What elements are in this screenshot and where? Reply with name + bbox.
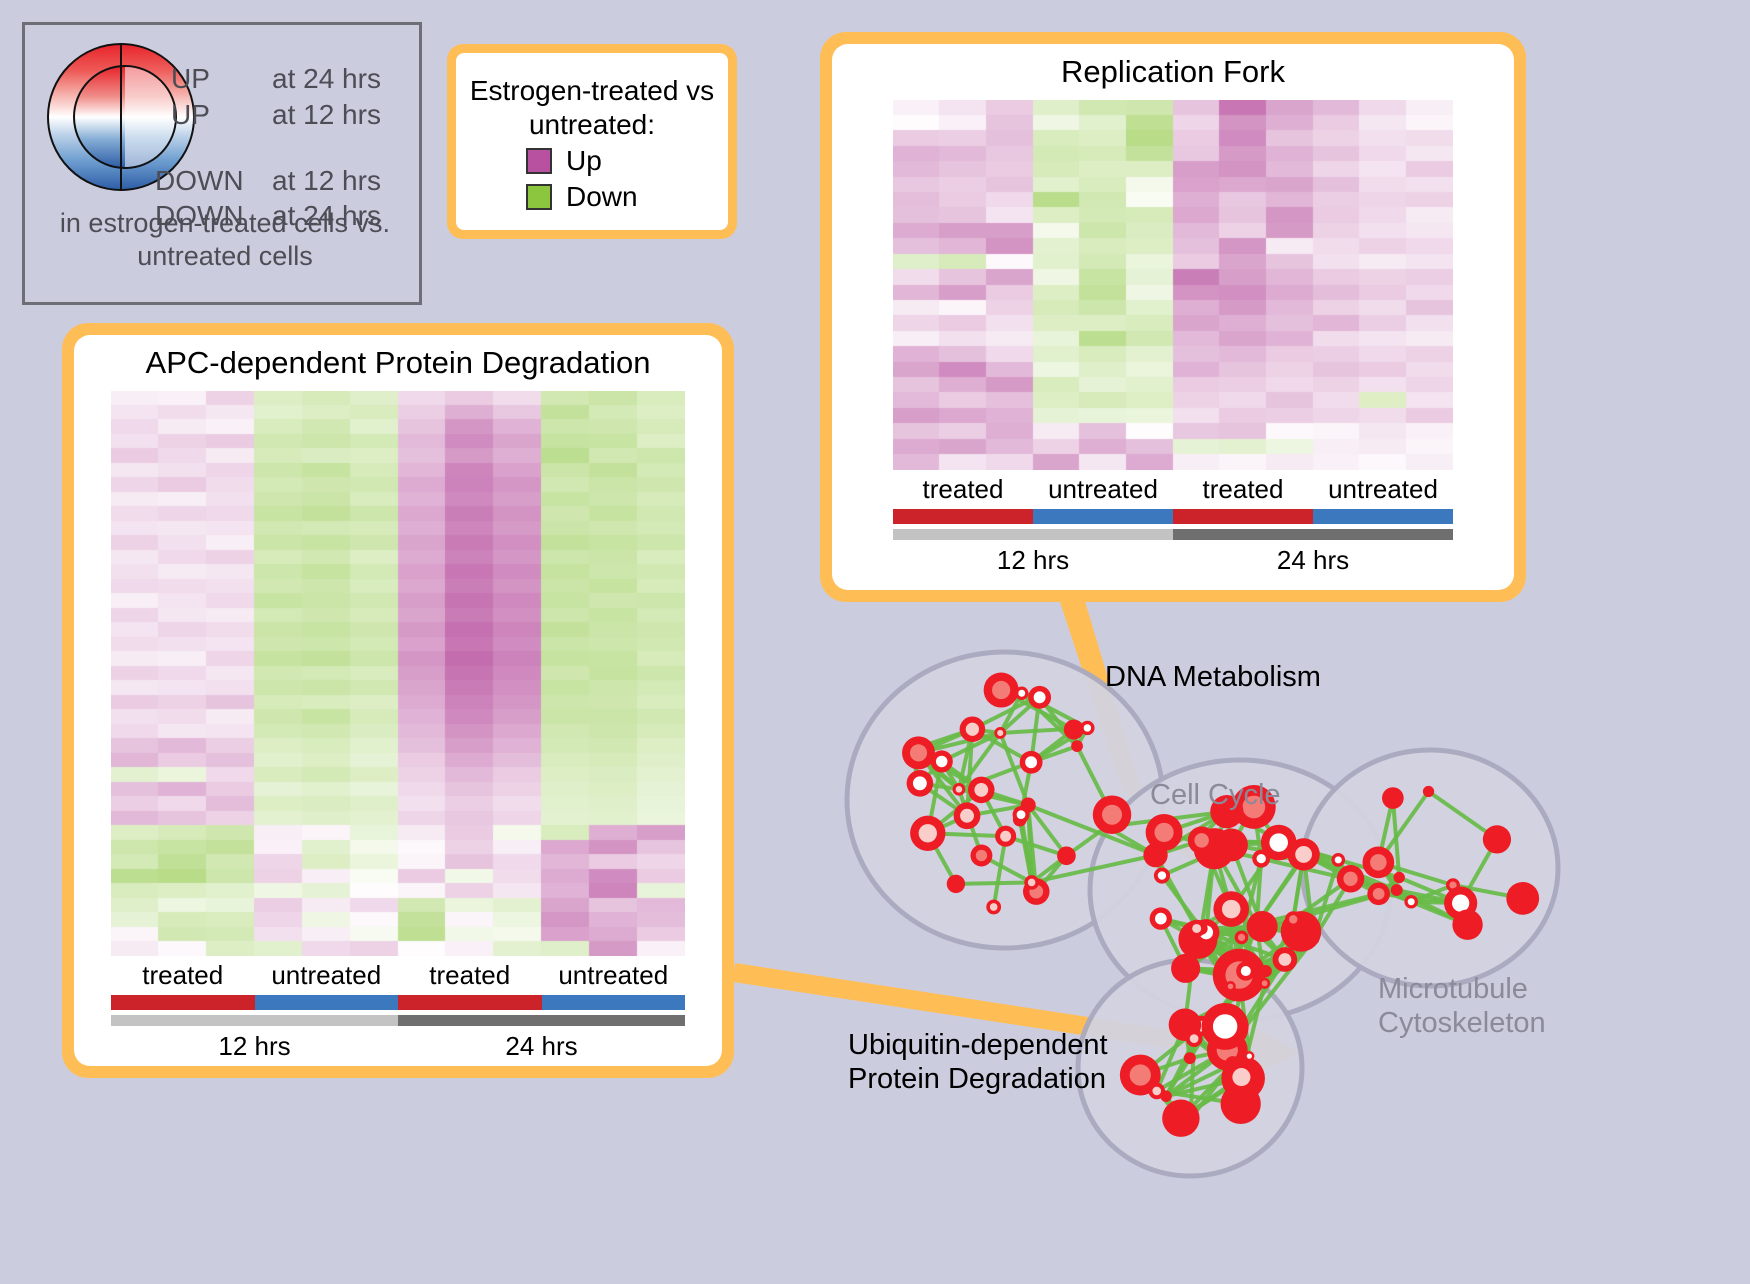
treatment-label: untreated (542, 956, 686, 994)
network-node[interactable] (1071, 740, 1083, 752)
legend-time-0: at 24 hrs (272, 63, 381, 95)
time-color-bar-apc (111, 1015, 685, 1026)
network-node-core (1028, 879, 1036, 887)
legend-footnote: in estrogen-treated cells vs. untreated … (25, 207, 425, 273)
panel-apc-dependent-protein-degradation: APC-dependent Protein Degradation treate… (62, 323, 734, 1078)
network-node-core (1084, 724, 1091, 731)
legend-state-2: DOWN (155, 165, 244, 197)
network-node-core (1295, 846, 1312, 863)
up-label: Up (566, 145, 658, 177)
network-node-core (1408, 898, 1415, 905)
network-node-core (1452, 895, 1469, 912)
network-node-core (1152, 1087, 1161, 1096)
ring-divider (120, 43, 122, 191)
network-node[interactable] (1021, 798, 1036, 813)
treatment-label: untreated (1313, 470, 1453, 508)
network-edge (956, 882, 1032, 883)
network-node[interactable] (1423, 786, 1434, 797)
network-node-core (1278, 953, 1291, 966)
legend-entry-up: Up (526, 145, 658, 177)
network-node[interactable] (1506, 882, 1539, 915)
treatment-label: treated (1173, 470, 1313, 508)
network-node-core (1238, 934, 1245, 941)
cluster-label-ubiquitin-dependent-protein-degradation: Ubiquitin-dependent Protein Degradation (848, 1028, 1108, 1096)
treatment-bar-segment (398, 995, 542, 1010)
legend-state-1: UP (171, 99, 210, 131)
time-labels-apc: 12 hrs 24 hrs (111, 1026, 685, 1062)
time-labels-replication: 12 hrs 24 hrs (893, 540, 1453, 576)
network-node-core (1232, 1068, 1250, 1086)
time-label: 12 hrs (111, 1026, 398, 1062)
network-node[interactable] (1184, 1052, 1196, 1064)
network-node-core (1262, 980, 1268, 986)
network-node[interactable] (1394, 872, 1405, 883)
network-node-core (1158, 871, 1166, 879)
panel-title-apc: APC-dependent Protein Degradation (146, 345, 651, 381)
network-svg (790, 600, 1750, 1279)
network-node-core (1213, 1014, 1237, 1038)
network-node-core (1257, 854, 1266, 863)
network-node-core (997, 730, 1003, 736)
network-node-core (1025, 756, 1037, 768)
network-node-core (990, 903, 998, 911)
network-node-core (1155, 913, 1167, 925)
treatment-labels-replication: treated untreated treated untreated (893, 470, 1453, 508)
updown-legend-title: Estrogen-treated vs untreated: (456, 74, 728, 141)
network-node-core (1289, 915, 1297, 923)
network-node[interactable] (1308, 934, 1319, 945)
network-node-core (913, 776, 927, 790)
treatment-bar-segment (1313, 509, 1453, 524)
network-node-core (1247, 1054, 1252, 1059)
time-label: 24 hrs (1173, 540, 1453, 576)
down-label: Down (566, 181, 658, 213)
legend-entry-down: Down (526, 181, 658, 213)
network-node-core (1269, 833, 1288, 852)
network-node-core (992, 681, 1010, 699)
network-node-core (1034, 691, 1046, 703)
panel-title-replication-fork: Replication Fork (1061, 54, 1285, 90)
network-node-core (1241, 966, 1251, 976)
network-node-core (1017, 810, 1026, 819)
heatmap-apc-dependent-protein-degradation (111, 391, 685, 956)
column-annotations-apc: treated untreated treated untreated 12 h (111, 956, 685, 1062)
treatment-color-bar-apc (111, 995, 685, 1010)
network-node-core (974, 783, 988, 797)
heatmap-replication-fork (893, 100, 1453, 470)
network-node-core (956, 786, 963, 793)
panel-replication-fork: Replication Fork treated untreated treat… (820, 32, 1526, 602)
network-node-core (1154, 823, 1173, 842)
treatment-bar-segment (893, 509, 1033, 524)
legend-state-0: UP (171, 63, 210, 95)
network-node-core (1102, 805, 1122, 825)
network-node-core (936, 756, 948, 768)
time-bar-segment (398, 1015, 685, 1026)
network-node-core (1373, 888, 1385, 900)
treatment-bar-segment (1033, 509, 1173, 524)
updown-color-legend: Estrogen-treated vs untreated: Up Down (447, 44, 737, 239)
network-node-core (960, 809, 974, 823)
network-node-core (966, 723, 979, 736)
network-node-core (1194, 833, 1208, 847)
network-node[interactable] (1215, 828, 1248, 861)
column-annotations-replication-fork: treated untreated treated untreated 12 h (893, 470, 1453, 576)
network-node[interactable] (1452, 910, 1482, 940)
time-color-bar-replication (893, 529, 1453, 540)
treatment-bar-segment (1173, 509, 1313, 524)
network-node-core (1228, 984, 1233, 989)
network-node-core (1222, 900, 1241, 919)
treatment-bar-segment (111, 995, 255, 1010)
network-node-core (1018, 690, 1025, 697)
time-label: 12 hrs (893, 540, 1173, 576)
time-bar-segment (893, 529, 1173, 540)
network-node-core (1000, 831, 1011, 842)
pathway-network-diagram: DNA Metabolism Cell Cycle Microtubule Cy… (790, 600, 1750, 1279)
inner-ring-12hrs (73, 65, 177, 169)
legend-time-2: at 12 hrs (272, 165, 381, 197)
figure-canvas: UP at 24 hrs UP at 12 hrs DOWN at 12 hrs… (0, 0, 1750, 1279)
treatment-label: untreated (255, 956, 399, 994)
time-label: 24 hrs (398, 1026, 685, 1062)
network-node-core (1190, 1034, 1199, 1043)
expression-circle-legend: UP at 24 hrs UP at 12 hrs DOWN at 12 hrs… (22, 22, 422, 305)
network-node[interactable] (947, 875, 965, 893)
network-node[interactable] (1247, 911, 1278, 942)
down-color-swatch (526, 184, 552, 210)
treatment-labels-apc: treated untreated treated untreated (111, 956, 685, 994)
time-bar-segment (1173, 529, 1453, 540)
network-node-core (910, 744, 927, 761)
cluster-label-dna-metabolism: DNA Metabolism (1105, 660, 1321, 694)
network-node-core (976, 850, 987, 861)
network-node[interactable] (1057, 846, 1076, 865)
cluster-label-microtubule-cytoskeleton: Microtubule Cytoskeleton (1378, 972, 1546, 1040)
network-node[interactable] (1391, 884, 1403, 896)
network-node-core (1370, 854, 1387, 871)
network-node[interactable] (1483, 825, 1511, 853)
network-node-core (1335, 856, 1342, 863)
network-node[interactable] (1382, 787, 1404, 809)
treatment-bar-segment (255, 995, 399, 1010)
network-node-core (1130, 1064, 1151, 1085)
network-node[interactable] (1185, 1113, 1196, 1124)
network-node-core (1192, 924, 1201, 933)
treatment-label: untreated (1033, 470, 1173, 508)
treatment-label: treated (111, 956, 255, 994)
legend-time-1: at 12 hrs (272, 99, 381, 131)
treatment-color-bar-replication (893, 509, 1453, 524)
cluster-label-cell-cycle: Cell Cycle (1150, 778, 1281, 812)
network-node-core (919, 824, 937, 842)
network-node[interactable] (1260, 965, 1272, 977)
treatment-label: treated (893, 470, 1033, 508)
treatment-bar-segment (542, 995, 686, 1010)
up-color-swatch (526, 148, 552, 174)
network-node[interactable] (1171, 954, 1200, 983)
network-node-core (1343, 872, 1357, 886)
treatment-label: treated (398, 956, 542, 994)
time-bar-segment (111, 1015, 398, 1026)
